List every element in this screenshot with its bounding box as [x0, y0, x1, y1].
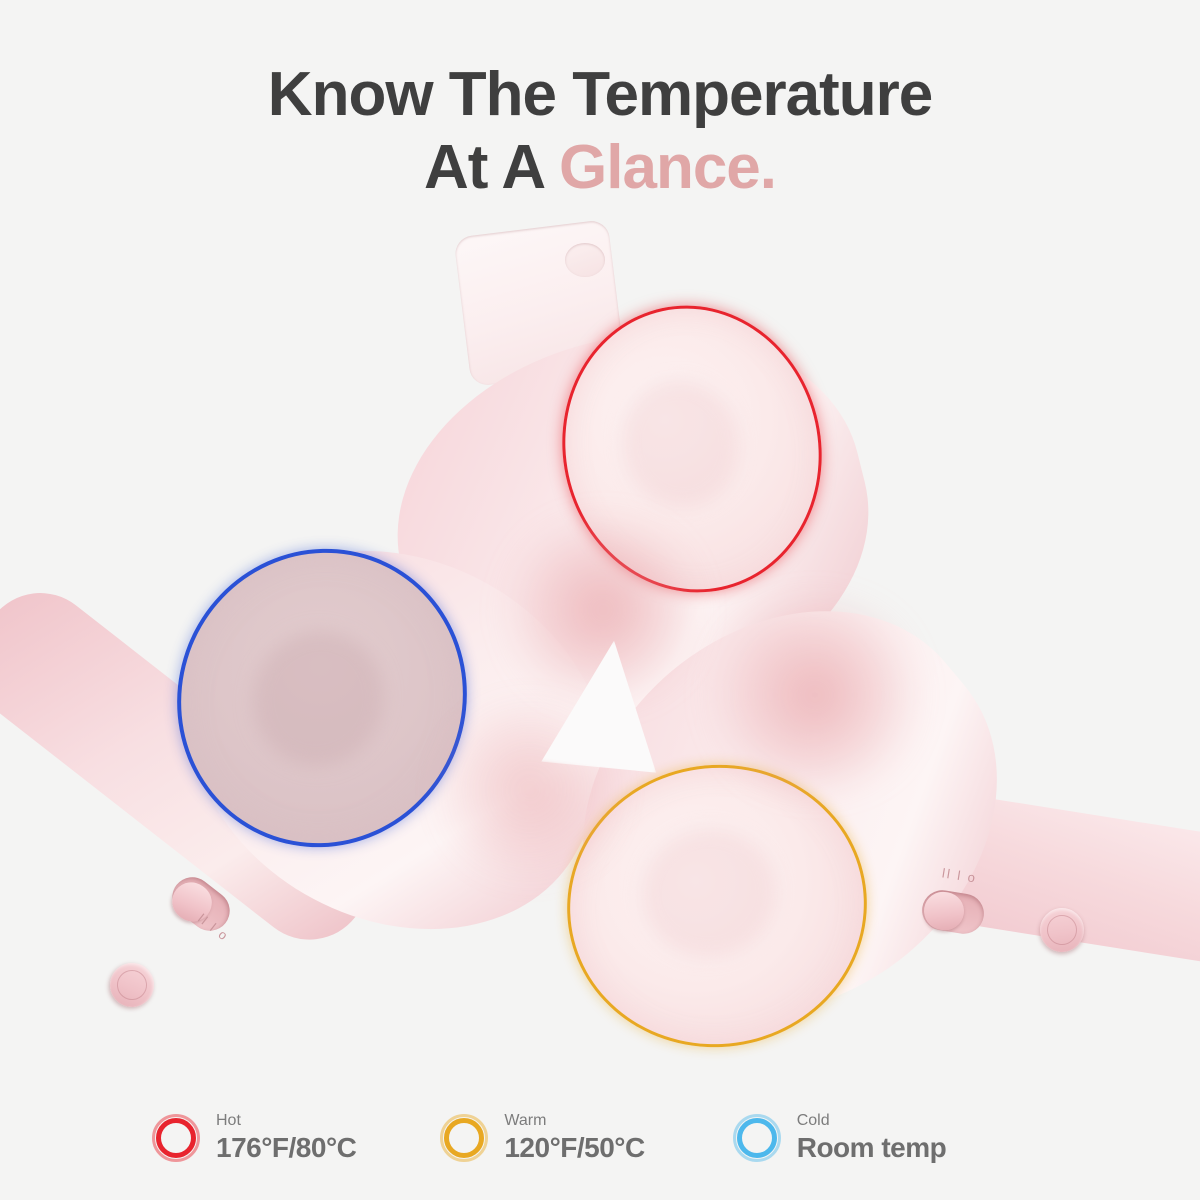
legend-value-cold: Room temp — [797, 1132, 947, 1164]
ring-icon-cold — [733, 1114, 781, 1162]
nozzle-face-inner-cold — [233, 611, 404, 786]
headline-line-1: Know The Temperature — [268, 60, 932, 129]
legend-label-cold: Cold — [797, 1112, 947, 1130]
temperature-legend: Hot 176°F/80°C Warm 120°F/50°C Cold Room… — [0, 1112, 1200, 1164]
legend-value-hot: 176°F/80°C — [216, 1132, 356, 1164]
ring-icon-hot — [152, 1114, 200, 1162]
ring-icon-warm — [440, 1114, 488, 1162]
contact-shadow-right — [700, 600, 930, 790]
legend-label-warm: Warm — [504, 1112, 644, 1130]
legend-text-cold: Cold Room temp — [797, 1112, 947, 1164]
legend-value-warm: 120°F/50°C — [504, 1132, 644, 1164]
legend-item-hot: Hot 176°F/80°C — [152, 1112, 356, 1164]
legend-label-hot: Hot — [216, 1112, 356, 1130]
legend-item-warm: Warm 120°F/50°C — [440, 1112, 644, 1164]
nozzle-face-inner-hot — [611, 370, 751, 519]
headline-line-2-plain: At A — [424, 133, 559, 202]
nozzle-tab-dot-hot — [565, 243, 605, 277]
page-title: Know The Temperature At A Glance. — [0, 62, 1200, 202]
product-marketing-image: Know The Temperature At A Glance. — [0, 0, 1200, 1200]
legend-text-hot: Hot 176°F/80°C — [216, 1112, 356, 1164]
headline-line-2: At A Glance. — [0, 135, 1200, 202]
legend-text-warm: Warm 120°F/50°C — [504, 1112, 644, 1164]
legend-item-cold: Cold Room temp — [733, 1112, 947, 1164]
cool-shot-button-cold[interactable] — [101, 954, 163, 1016]
nozzle-face-inner-warm — [634, 820, 785, 965]
headline-accent-word: Glance. — [559, 133, 776, 202]
